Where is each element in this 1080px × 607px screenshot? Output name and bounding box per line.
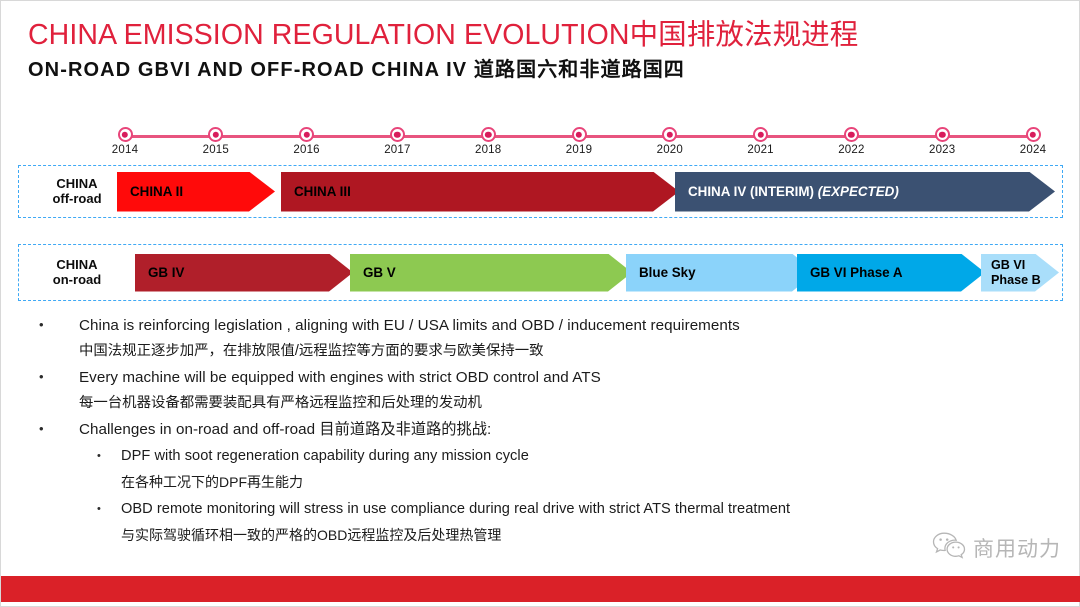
onroad-band-label: CHINA on-road <box>29 257 125 289</box>
timeline-node-2023: 2023 <box>915 127 969 156</box>
onroad-band: CHINA on-road GB IVGB VBlue SkyGB VI Pha… <box>18 244 1063 301</box>
timeline-year-label: 2021 <box>734 144 788 156</box>
sub-bullet-text-cn: 在各种工况下的DPF再生能力 <box>121 469 1031 495</box>
page-title: CHINA EMISSION REGULATION EVOLUTION中国排放法… <box>28 19 858 52</box>
offroad-arrow-label-suffix: (EXPECTED) <box>818 184 899 199</box>
wechat-icon <box>932 531 966 564</box>
timeline-node-2024: 2024 <box>1006 127 1060 156</box>
onroad-arrow-1: GB IV <box>135 254 353 292</box>
timeline-node-2014: 2014 <box>98 127 152 156</box>
sub-bullet-text-cn: 与实际驾驶循环相一致的严格的OBD远程监控及后处理热管理 <box>121 522 1031 548</box>
bullet-text-en: China is reinforcing legislation , align… <box>79 313 1031 338</box>
slide-canvas: CHINA EMISSION REGULATION EVOLUTION中国排放法… <box>0 0 1080 607</box>
bullet-item: •Every machine will be equipped with eng… <box>31 365 1031 416</box>
bullet-marker-icon: • <box>39 366 44 387</box>
timeline-year-label: 2023 <box>915 144 969 156</box>
watermark: 商用动力 <box>932 531 1061 564</box>
offroad-label-line2: off-road <box>52 192 101 207</box>
timeline-marker-icon <box>935 127 950 142</box>
timeline-marker-icon <box>208 127 223 142</box>
timeline-marker-icon <box>753 127 768 142</box>
offroad-arrow-3: CHINA IV (INTERIM) (EXPECTED) <box>675 172 1055 212</box>
sub-bullet-marker-icon: • <box>97 445 101 467</box>
timeline-node-2021: 2021 <box>734 127 788 156</box>
timeline-node-2020: 2020 <box>643 127 697 156</box>
timeline-node-2016: 2016 <box>280 127 334 156</box>
bullet-text-cn: 每一台机器设备都需要装配具有严格远程监控和后处理的发动机 <box>79 390 1031 416</box>
page-subtitle: ON-ROAD GBVI AND OFF-ROAD CHINA IV 道路国六和… <box>28 58 685 82</box>
timeline-marker-icon <box>844 127 859 142</box>
onroad-label-line2: on-road <box>53 273 101 288</box>
timeline-year-label: 2022 <box>824 144 878 156</box>
offroad-arrow-label: CHINA III <box>281 184 351 199</box>
timeline-marker-icon <box>390 127 405 142</box>
watermark-text: 商用动力 <box>973 533 1061 563</box>
onroad-arrow-label: GB IV <box>135 265 184 280</box>
sub-bullet-text-en: DPF with soot regeneration capability du… <box>121 444 1031 469</box>
bullet-text-en: Challenges in on-road and off-road 目前道路及… <box>79 417 1031 442</box>
timeline-marker-icon <box>1026 127 1041 142</box>
offroad-band: CHINA off-road CHINA IICHINA IIICHINA IV… <box>18 165 1063 218</box>
bullet-marker-icon: • <box>39 418 44 439</box>
timeline-marker-icon <box>572 127 587 142</box>
bottom-accent-bar <box>1 576 1080 602</box>
bullet-list: •China is reinforcing legislation , alig… <box>31 313 1031 549</box>
timeline-marker-icon <box>481 127 496 142</box>
onroad-arrow-5: GB VIPhase B <box>981 254 1059 292</box>
onroad-arrow-4: GB VI Phase A <box>797 254 985 292</box>
timeline-year-label: 2017 <box>370 144 424 156</box>
sub-bullet-marker-icon: • <box>97 498 101 520</box>
timeline-year-label: 2014 <box>98 144 152 156</box>
timeline-year-label: 2019 <box>552 144 606 156</box>
bullet-item: •Challenges in on-road and off-road 目前道路… <box>31 417 1031 548</box>
offroad-label-line1: CHINA <box>56 176 97 191</box>
offroad-arrow-label: CHINA II <box>117 184 183 199</box>
onroad-arrow-2: GB V <box>350 254 632 292</box>
onroad-arrow-label: GB VI Phase A <box>797 265 903 280</box>
timeline-node-2019: 2019 <box>552 127 606 156</box>
offroad-arrow-label: CHINA IV (INTERIM) (EXPECTED) <box>675 184 899 199</box>
timeline-marker-icon <box>662 127 677 142</box>
timeline-node-2018: 2018 <box>461 127 515 156</box>
onroad-arrow-3: Blue Sky <box>626 254 816 292</box>
onroad-arrow-label: Blue Sky <box>626 265 696 280</box>
offroad-arrow-2: CHINA III <box>281 172 679 212</box>
timeline-year-label: 2024 <box>1006 144 1060 156</box>
sub-bullet-item: •OBD remote monitoring will stress in us… <box>79 497 1031 548</box>
timeline: 2014201520162017201820192020202120222023… <box>119 127 1039 161</box>
onroad-label-line1: CHINA <box>56 257 97 272</box>
timeline-year-label: 2020 <box>643 144 697 156</box>
timeline-node-2015: 2015 <box>189 127 243 156</box>
timeline-year-label: 2018 <box>461 144 515 156</box>
offroad-arrow-1: CHINA II <box>117 172 275 212</box>
timeline-marker-icon <box>118 127 133 142</box>
bullet-marker-icon: • <box>39 314 44 335</box>
sub-bullet-text-en: OBD remote monitoring will stress in use… <box>121 497 1031 522</box>
bullet-text-en: Every machine will be equipped with engi… <box>79 365 1031 390</box>
timeline-marker-icon <box>299 127 314 142</box>
onroad-arrow-label: GB V <box>350 265 396 280</box>
bullet-item: •China is reinforcing legislation , alig… <box>31 313 1031 364</box>
sub-bullet-item: •DPF with soot regeneration capability d… <box>79 444 1031 495</box>
bullet-text-cn: 中国法规正逐步加严，在排放限值/远程监控等方面的要求与欧美保持一致 <box>79 338 1031 364</box>
timeline-year-label: 2015 <box>189 144 243 156</box>
offroad-band-label: CHINA off-road <box>29 176 125 208</box>
timeline-node-2022: 2022 <box>824 127 878 156</box>
timeline-node-2017: 2017 <box>370 127 424 156</box>
timeline-year-label: 2016 <box>280 144 334 156</box>
onroad-arrow-label: GB VIPhase B <box>981 258 1041 288</box>
